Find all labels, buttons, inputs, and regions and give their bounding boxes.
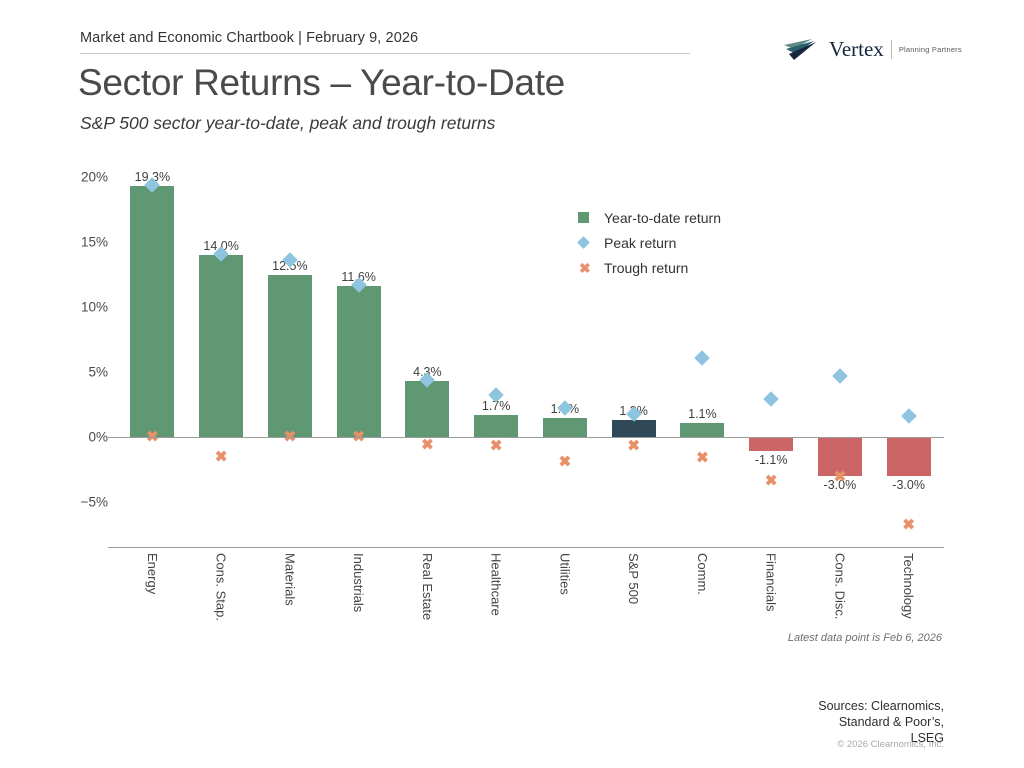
chart-bar[interactable]	[337, 286, 381, 437]
vertex-logo: Vertex Planning Partners	[782, 36, 962, 62]
page-title: Sector Returns – Year-to-Date	[78, 62, 565, 104]
chart-bar[interactable]	[268, 275, 312, 438]
trough-return-marker[interactable]: ✖	[215, 449, 228, 464]
copyright-text: © 2026 Clearnomics, Inc.	[837, 739, 944, 750]
x-axis-category-label: Utilities	[557, 553, 572, 595]
trough-return-marker[interactable]: ✖	[627, 439, 640, 454]
chart-bar[interactable]	[680, 423, 724, 437]
chart-bar[interactable]	[130, 186, 174, 437]
trough-return-marker[interactable]: ✖	[902, 518, 915, 533]
x-axis-category-label: Technology	[901, 553, 916, 619]
legend-item-peak: Peak return	[578, 230, 721, 255]
trough-return-marker[interactable]: ✖	[559, 454, 572, 469]
latest-data-note: Latest data point is Feb 6, 2026	[788, 632, 942, 644]
peak-return-marker[interactable]	[695, 350, 711, 366]
bar-value-label: -1.1%	[755, 453, 788, 467]
x-axis-category-label: Healthcare	[489, 553, 504, 616]
chart-bar[interactable]	[612, 420, 656, 437]
logo-divider	[891, 40, 892, 59]
logo-wordmark: Vertex	[829, 39, 884, 60]
chart-bar[interactable]	[405, 381, 449, 437]
legend-diamond-icon	[578, 238, 604, 247]
vertex-arrow-icon	[782, 36, 822, 62]
x-axis-category-label: Energy	[145, 553, 160, 594]
legend-label: Year-to-date return	[604, 210, 721, 226]
chartbook-kicker: Market and Economic Chartbook | February…	[80, 30, 690, 46]
x-axis-category-label: S&P 500	[626, 553, 641, 604]
chart-bar[interactable]	[749, 437, 793, 451]
header-divider	[80, 53, 690, 54]
logo-tagline: Planning Partners	[899, 45, 962, 54]
y-axis-tick: 5%	[88, 365, 117, 380]
chart-legend: Year-to-date return Peak return ✖ Trough…	[578, 205, 721, 280]
trough-return-marker[interactable]: ✖	[421, 437, 434, 452]
legend-item-ytd: Year-to-date return	[578, 205, 721, 230]
x-axis-category-label: Real Estate	[420, 553, 435, 620]
chart-bar[interactable]	[887, 437, 931, 476]
trough-return-marker[interactable]: ✖	[696, 450, 709, 465]
legend-square-icon	[578, 212, 604, 223]
legend-label: Trough return	[604, 260, 688, 276]
trough-return-marker[interactable]: ✖	[490, 439, 503, 454]
x-axis-category-label: Cons. Stap.	[214, 553, 229, 621]
zero-baseline	[108, 437, 944, 438]
sources-line: Standard & Poor’s,	[818, 714, 944, 730]
chartbook-header: Market and Economic Chartbook | February…	[80, 30, 690, 54]
y-axis-tick: 15%	[81, 235, 117, 250]
trough-return-marker[interactable]: ✖	[834, 470, 847, 485]
sources-line: Sources: Clearnomics,	[818, 698, 944, 714]
x-axis-line	[108, 547, 944, 548]
y-axis-tick: −5%	[81, 495, 117, 510]
chart-bar[interactable]	[199, 255, 243, 437]
y-axis-tick: 20%	[81, 170, 117, 185]
x-axis-category-label: Cons. Disc.	[832, 553, 847, 619]
page-subtitle: S&P 500 sector year-to-date, peak and tr…	[80, 113, 495, 134]
x-axis-category-label: Comm.	[695, 553, 710, 595]
peak-return-marker[interactable]	[763, 392, 779, 408]
peak-return-marker[interactable]	[901, 408, 917, 424]
chart-bar[interactable]	[474, 415, 518, 437]
x-axis-category-label: Industrials	[351, 553, 366, 612]
x-axis-category-label: Financials	[764, 553, 779, 612]
bar-value-label: -3.0%	[892, 478, 925, 492]
chart-bar[interactable]	[543, 418, 587, 438]
x-axis-category-label: Materials	[282, 553, 297, 606]
y-axis-tick: 10%	[81, 300, 117, 315]
peak-return-marker[interactable]	[832, 368, 848, 384]
bar-value-label: 1.1%	[688, 407, 717, 421]
legend-label: Peak return	[604, 235, 676, 251]
trough-return-marker[interactable]: ✖	[765, 474, 778, 489]
legend-x-icon: ✖	[578, 261, 604, 275]
chart-plot-area: 20%15%10%5%0%−5% 19.3%14.0%12.5%11.6%4.3…	[118, 177, 943, 437]
legend-item-trough: ✖ Trough return	[578, 255, 721, 280]
